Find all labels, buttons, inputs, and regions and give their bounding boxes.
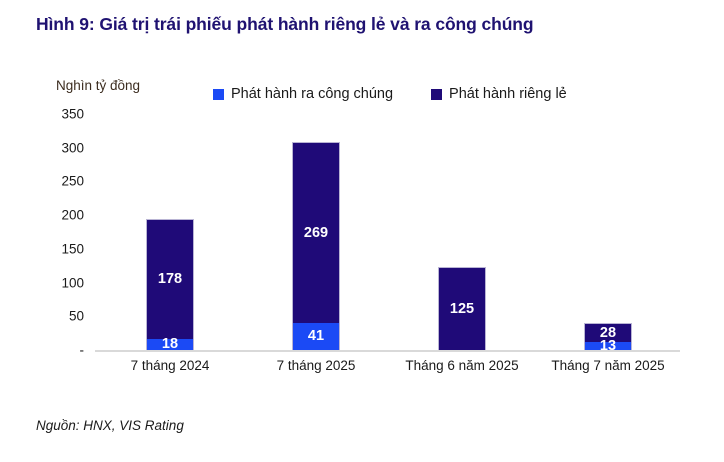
- plot-area: 17818269411252813: [95, 115, 680, 351]
- chart-legend: Phát hành ra công chúng Phát hành riêng …: [213, 86, 567, 102]
- bar-value-private-issue: 178: [158, 272, 182, 287]
- x-axis-label: Tháng 7 năm 2025: [551, 358, 664, 373]
- y-tick-200: 200: [61, 208, 84, 223]
- bar-segment-private-issue[interactable]: 269: [292, 142, 340, 323]
- y-tick-250: 250: [61, 174, 84, 189]
- bar-group[interactable]: 26941: [292, 142, 340, 351]
- bar-segment-public-issue[interactable]: 41: [292, 323, 340, 351]
- y-tick-100: 100: [61, 275, 84, 290]
- x-axis-label: Tháng 6 năm 2025: [405, 358, 518, 373]
- legend-item-private-issue[interactable]: Phát hành riêng lẻ: [431, 86, 567, 102]
- y-tick--: -: [80, 343, 85, 358]
- y-tick-150: 150: [61, 241, 84, 256]
- bar-group[interactable]: 125: [438, 267, 486, 351]
- legend-swatch-public-issue-icon: [213, 89, 224, 100]
- x-axis-label: 7 tháng 2024: [131, 358, 210, 373]
- y-axis-tick-labels: 35030025020015010050-: [34, 108, 90, 358]
- x-axis-line: [95, 350, 680, 352]
- bar-group[interactable]: 17818: [146, 219, 194, 351]
- bar-group[interactable]: 2813: [584, 323, 632, 351]
- y-tick-350: 350: [61, 107, 84, 122]
- bar-value-private-issue: 269: [304, 226, 328, 241]
- legend-label-public-issue: Phát hành ra công chúng: [231, 86, 393, 102]
- y-tick-50: 50: [69, 309, 84, 324]
- bar-value-private-issue: 125: [450, 302, 474, 317]
- y-tick-300: 300: [61, 140, 84, 155]
- legend-swatch-private-issue-icon: [431, 89, 442, 100]
- legend-label-private-issue: Phát hành riêng lẻ: [449, 86, 567, 102]
- chart-title: Hình 9: Giá trị trái phiếu phát hành riê…: [36, 14, 533, 35]
- bar-segment-private-issue[interactable]: 178: [146, 219, 194, 339]
- x-axis-label: 7 tháng 2025: [277, 358, 356, 373]
- figure-container: Hình 9: Giá trị trái phiếu phát hành riê…: [0, 0, 724, 462]
- legend-item-public-issue[interactable]: Phát hành ra công chúng: [213, 86, 393, 102]
- y-axis-unit-label: Nghìn tỷ đồng: [56, 78, 140, 93]
- source-note: Nguồn: HNX, VIS Rating: [36, 418, 184, 433]
- x-axis-category-labels: 7 tháng 20247 tháng 2025Tháng 6 năm 2025…: [95, 358, 680, 382]
- bar-segment-private-issue[interactable]: 125: [438, 267, 486, 351]
- bar-value-public-issue: 41: [308, 329, 324, 344]
